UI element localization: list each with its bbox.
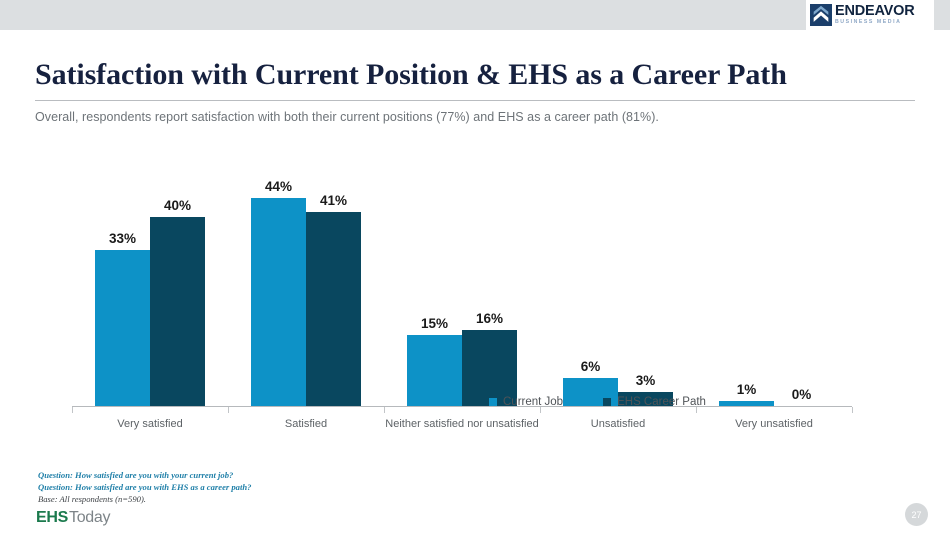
endeavor-chevron-icon [810, 4, 832, 26]
footnote-base: Base: All respondents (n=590). [38, 493, 251, 506]
bar-value-label: 41% [320, 193, 347, 208]
endeavor-brand-name: ENDEAVOR [835, 4, 915, 19]
title-divider [35, 100, 915, 101]
category-label: Very unsatisfied [696, 418, 852, 430]
legend-swatch-ehs-career-path [603, 398, 611, 406]
endeavor-logo-text: ENDEAVOR BUSINESS MEDIA [835, 4, 915, 25]
bar-group: 6%3% [540, 170, 696, 406]
legend-swatch-current-job [489, 398, 497, 406]
legend-item-ehs-career-path[interactable]: EHS Career Path [603, 396, 706, 408]
bar-value-label: 44% [265, 179, 292, 194]
footnote-question-2: Question: How satisfied are you with EHS… [38, 482, 251, 494]
bar-value-label: 16% [476, 311, 503, 326]
bar-group: 1%0% [696, 170, 852, 406]
chart-legend: Current Job EHS Career Path [489, 396, 746, 408]
page-title: Satisfaction with Current Position & EHS… [35, 58, 787, 92]
bar-value-label: 0% [792, 387, 812, 402]
bar-group: 44%41% [228, 170, 384, 406]
bar-group: 15%16% [384, 170, 540, 406]
x-axis-tick [852, 407, 853, 413]
category-label: Neither satisfied nor unsatisfied [384, 418, 540, 430]
bar-value-label: 40% [164, 198, 191, 213]
endeavor-brand-tagline: BUSINESS MEDIA [835, 20, 915, 25]
category-label: Satisfied [228, 418, 384, 430]
endeavor-logo: ENDEAVOR BUSINESS MEDIA [806, 0, 934, 30]
bar-ehs-career-path[interactable]: 40% [150, 217, 205, 406]
page-subtitle: Overall, respondents report satisfaction… [35, 110, 659, 124]
ehs-logo-bold: EHS [36, 509, 68, 527]
bar-current-job[interactable]: 33% [95, 250, 150, 406]
legend-label-ehs-career-path: EHS Career Path [617, 396, 706, 408]
category-label: Very satisfied [72, 418, 228, 430]
top-banner: ENDEAVOR BUSINESS MEDIA [0, 0, 950, 30]
bar-current-job[interactable]: 44% [251, 198, 306, 406]
page-number-badge: 27 [905, 503, 928, 526]
ehs-today-logo: EHS Today [36, 509, 110, 527]
ehs-logo-light: Today [69, 509, 110, 527]
footnote-question-1: Question: How satisfied are you with you… [38, 470, 251, 482]
footnotes: Question: How satisfied are you with you… [38, 470, 251, 506]
bar-group: 33%40% [72, 170, 228, 406]
legend-label-current-job: Current Job [503, 396, 563, 408]
bar-ehs-career-path[interactable]: 41% [306, 212, 361, 406]
bar-ehs-career-path[interactable]: 16% [462, 330, 517, 406]
bar-value-label: 3% [636, 373, 656, 388]
bar-value-label: 6% [581, 359, 601, 374]
bar-value-label: 15% [421, 316, 448, 331]
x-axis-tick [384, 407, 385, 413]
bar-current-job[interactable]: 15% [407, 335, 462, 406]
bar-chart: 33%40%44%41%15%16%6%3%1%0% Very satisfie… [0, 150, 950, 440]
legend-item-current-job[interactable]: Current Job [489, 396, 563, 408]
bar-value-label: 33% [109, 231, 136, 246]
x-axis-tick [72, 407, 73, 413]
category-label: Unsatisfied [540, 418, 696, 430]
x-axis-tick [228, 407, 229, 413]
